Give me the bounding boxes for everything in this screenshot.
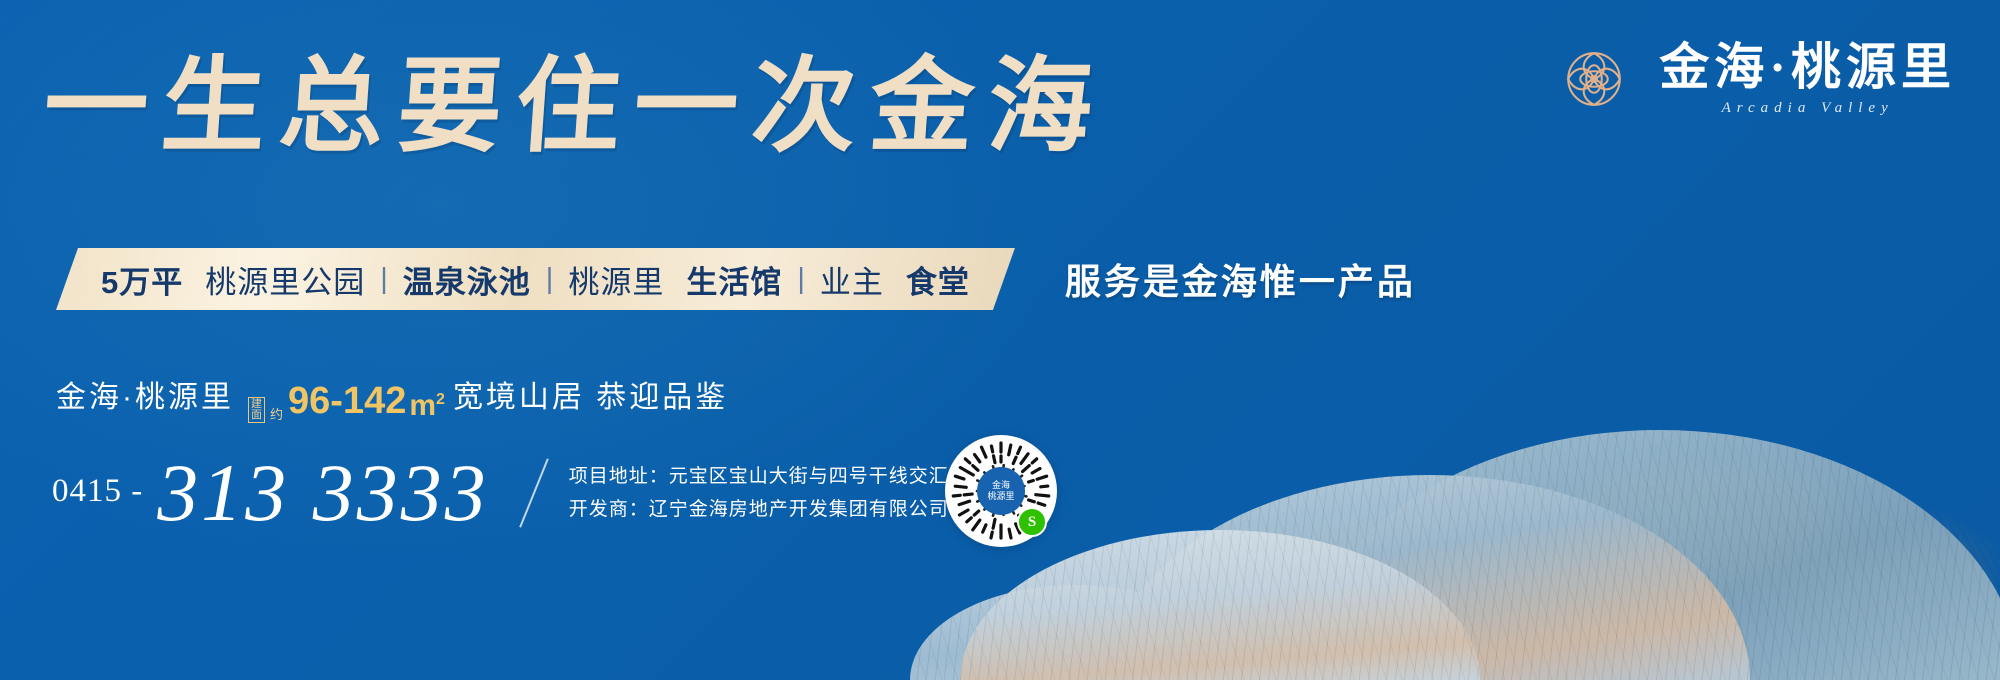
area-label-stack: 建 面 (248, 397, 265, 423)
qr-center-line2: 桃源里 (987, 492, 1014, 502)
mountain-texture (1300, 430, 2000, 680)
project-address: 项目地址：元宝区宝山大街与四号干线交汇处 (569, 460, 969, 493)
product-project-name: 金海·桃源里 (56, 372, 234, 416)
area-tag: 建 面 约 96-142 m2 (248, 380, 445, 423)
wechat-qr-code[interactable]: 金海 桃源里 S (945, 435, 1057, 547)
promo-banner: 金海·桃源里 Arcadia Valley 一生总要住一次金海 5万平 桃源里公… (0, 0, 2000, 680)
mountain-texture (910, 585, 1240, 680)
diagonal-divider (519, 458, 549, 527)
mountain-shape-front (960, 530, 1480, 680)
product-tagline: 宽境山居 恭迎品鉴 (453, 372, 728, 416)
address-block: 项目地址：元宝区宝山大街与四号干线交汇处 开发商：辽宁金海房地产开发集团有限公司 (569, 460, 969, 527)
feature-item-3b: 生活馆 (675, 257, 793, 302)
area-unit-exponent: 2 (436, 391, 445, 408)
gold-foil-peak (1470, 415, 1940, 605)
contact-block: 0415 - 313 3333 项目地址：元宝区宝山大街与四号干线交汇处 开发商… (52, 452, 969, 534)
logo-text-group: 金海·桃源里 Arcadia Valley (1659, 41, 1956, 117)
brand-logo: 金海·桃源里 Arcadia Valley (1551, 36, 1956, 122)
wechat-badge-icon: S (1017, 507, 1047, 537)
feature-item-4b: 食堂 (895, 257, 981, 302)
mountain-shape-mid (1110, 475, 1750, 680)
feature-item-0: 5万平 (90, 257, 194, 302)
mountain-shape-back (1300, 430, 2000, 680)
area-about-label: 约 (270, 404, 283, 423)
logo-name-en: Arcadia Valley (1659, 100, 1956, 117)
area-range-value: 96-142 (288, 380, 406, 423)
feature-item-3a: 桃源里 (557, 257, 675, 302)
product-info-line: 金海·桃源里 建 面 约 96-142 m2 宽境山居 恭迎品鉴 (56, 372, 728, 423)
feature-separator-1: | (376, 263, 392, 296)
phone-number[interactable]: 313 3333 (157, 452, 489, 534)
feature-item-1: 桃源里公园 (194, 257, 376, 302)
feature-separator-2: | (542, 263, 558, 296)
area-unit: m2 (409, 389, 445, 423)
logo-name-cn: 金海·桃源里 (1659, 41, 1956, 94)
mountain-shape-far-left (910, 585, 1240, 680)
headline-slogan: 一生总要住一次金海 (40, 48, 1110, 168)
feature-item-2: 温泉泳池 (392, 257, 542, 302)
qr-center-line1: 金海 (992, 481, 1010, 491)
feature-item-4a: 业主 (809, 257, 895, 302)
lotus-emblem-icon (1551, 36, 1637, 122)
feature-row: 5万平 桃源里公园 | 温泉泳池 | 桃源里 生活馆 | 业主 食堂 服务是金海… (56, 248, 1416, 310)
service-slogan: 服务是金海惟一产品 (1065, 253, 1416, 305)
mountain-texture (1110, 475, 1750, 680)
phone-area-code: 0415 - (52, 473, 143, 514)
feature-ribbon: 5万平 桃源里公园 | 温泉泳池 | 桃源里 生活馆 | 业主 食堂 (56, 248, 1015, 310)
feature-separator-3: | (793, 263, 809, 296)
qr-center-brand: 金海 桃源里 (977, 467, 1025, 515)
mountain-texture (960, 530, 1480, 680)
area-label-line2: 面 (251, 410, 262, 421)
developer-name: 开发商：辽宁金海房地产开发集团有限公司 (569, 493, 969, 526)
